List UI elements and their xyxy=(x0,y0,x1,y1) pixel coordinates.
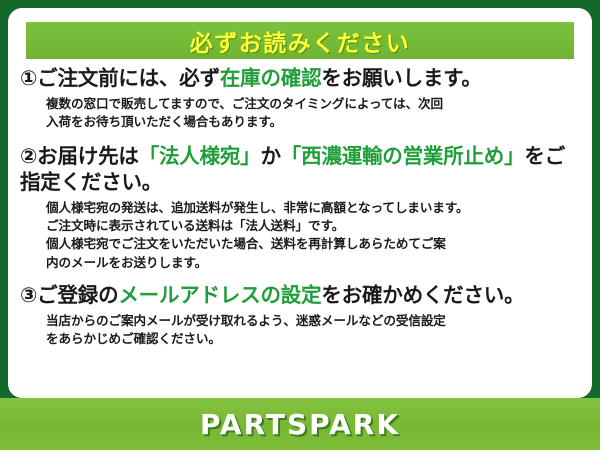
spacer-2 xyxy=(8,272,592,283)
brand-logo: PARTSPARK xyxy=(200,408,400,441)
item-2-head-mid: か xyxy=(260,144,280,168)
item-2-head-pre: お届け先は xyxy=(37,144,139,168)
item-2-head-highlight: 「法人様宛」 xyxy=(139,144,261,168)
notice-item-1-body: 複数の窓口で販売してますので、ご注文のタイミングによっては、次回 入荷をお待ち頂… xyxy=(20,92,582,132)
item-1-body-line-1: 複数の窓口で販売してますので、ご注文のタイミングによっては、次回 xyxy=(46,95,582,113)
notice-banner: { "header": { "title": "必ずお読みください", "ban… xyxy=(0,0,600,450)
notice-card: 必ずお読みください ①ご注文前には、必ず在庫の確認をお願いします。 複数の窓口で… xyxy=(8,8,592,398)
notice-item-3-body: 当店からのご案内メールが受け取れるよう、迷惑メールなどの受信設定 をあらかじめご… xyxy=(20,309,582,349)
notice-item-3: ③ご登録のメールアドレスの設定をお確かめください。 当店からのご案内メールが受け… xyxy=(8,283,592,348)
notice-item-3-heading: ③ご登録のメールアドレスの設定をお確かめください。 xyxy=(20,283,582,309)
item-2-body-line-4: 内のメールをお送りします。 xyxy=(46,254,582,272)
item-1-head-pre: ご注文前には、必ず xyxy=(37,66,220,90)
notice-item-1: ①ご注文前には、必ず在庫の確認をお願いします。 複数の窓口で販売してますので、ご… xyxy=(8,66,592,131)
item-1-head-highlight: 在庫の確認 xyxy=(220,66,322,90)
title-band: 必ずお読みください xyxy=(26,22,574,59)
notice-item-2-body: 個人様宅宛の発送は、追加送料が発生し、非常に高額となってしまいます。 ご注文時に… xyxy=(20,196,582,272)
notice-item-2: ②お届け先は「法人様宛」か「西濃運輸の営業所止め」をご指定ください。 個人様宅宛… xyxy=(8,144,592,272)
item-2-body-line-2: ご注文時に表示されている送料は「法人送料」です。 xyxy=(46,217,582,235)
item-3-head-highlight: メールアドレスの設定 xyxy=(118,283,321,307)
footer-band: PARTSPARK xyxy=(0,398,600,450)
item-1-marker: ① xyxy=(20,66,37,90)
item-2-marker: ② xyxy=(20,144,37,168)
notice-item-2-heading: ②お届け先は「法人様宛」か「西濃運輸の営業所止め」をご指定ください。 xyxy=(20,144,582,196)
item-2-head-highlight-2: 「西濃運輸の営業所止め」 xyxy=(281,144,525,168)
item-3-marker: ③ xyxy=(20,283,37,307)
spacer-1 xyxy=(8,131,592,144)
item-1-body-line-2: 入荷をお待ち頂いただく場合もあります。 xyxy=(46,113,582,131)
item-3-body-line-2: をあらかじめご確認ください。 xyxy=(46,330,582,348)
item-3-body-line-1: 当店からのご案内メールが受け取れるよう、迷惑メールなどの受信設定 xyxy=(46,312,582,330)
notice-content: ①ご注文前には、必ず在庫の確認をお願いします。 複数の窓口で販売してますので、ご… xyxy=(8,66,592,348)
item-2-body-line-3: 個人様宅宛でご注文をいただいた場合、送料を再計算しあらためてご案 xyxy=(46,235,582,253)
item-3-head-pre: ご登録の xyxy=(37,283,118,307)
page-title: 必ずお読みください xyxy=(190,24,411,58)
item-3-head-post: をお確かめください。 xyxy=(321,283,524,307)
item-2-body-line-1: 個人様宅宛の発送は、追加送料が発生し、非常に高額となってしまいます。 xyxy=(46,199,582,217)
item-1-head-post: をお願いします。 xyxy=(321,66,481,90)
notice-item-1-heading: ①ご注文前には、必ず在庫の確認をお願いします。 xyxy=(20,66,582,92)
